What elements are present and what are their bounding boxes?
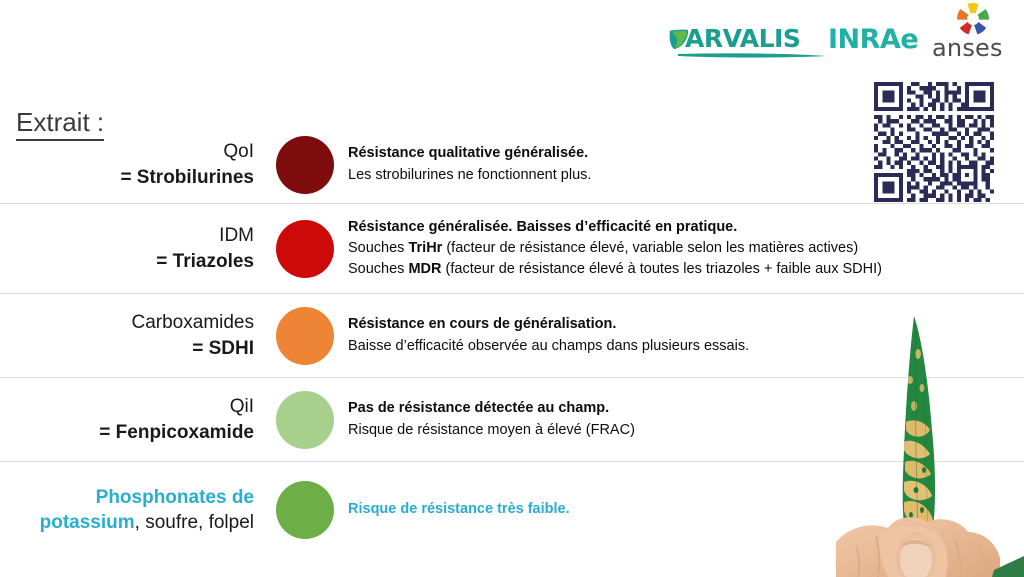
resistance-table: QoI = Strobilurines Résistance qualitati… bbox=[0, 126, 1024, 558]
status-dot-cell bbox=[266, 220, 344, 278]
table-row: QoI = Strobilurines Résistance qualitati… bbox=[0, 126, 1024, 204]
status-detail-line: Les strobilurines ne fonctionnent plus. bbox=[348, 165, 1024, 186]
status-dot-cell bbox=[266, 136, 344, 194]
fungicide-family-cell: Phosphonates de potassium, soufre, folpe… bbox=[0, 485, 266, 535]
resistance-description-cell: Résistance qualitative généralisée. Les … bbox=[344, 143, 1024, 185]
status-detail-line: Souches MDR (facteur de résistance élevé… bbox=[348, 259, 1024, 280]
family-code: IDM bbox=[0, 223, 254, 248]
resistance-description-cell: Résistance généralisée. Baisses d’effica… bbox=[344, 217, 1024, 280]
family-code: QiI bbox=[0, 394, 254, 419]
status-headline: Résistance qualitative généralisée. bbox=[348, 143, 1024, 164]
status-detail-line: Risque de résistance moyen à élevé (FRAC… bbox=[348, 420, 1024, 441]
anses-logo: anses bbox=[932, 2, 1024, 60]
fungicide-family-cell: Carboxamides = SDHI bbox=[0, 310, 266, 360]
table-row: IDM = Triazoles Résistance généralisée. … bbox=[0, 204, 1024, 294]
status-headline: Résistance généralisée. Baisses d’effica… bbox=[348, 217, 1024, 238]
anses-pinwheel-icon bbox=[956, 2, 990, 36]
table-row: QiI = Fenpicoxamide Pas de résistance dé… bbox=[0, 378, 1024, 462]
severity-dot-light-green bbox=[276, 391, 334, 449]
status-dot-cell bbox=[266, 481, 344, 539]
resistance-description-cell: Pas de résistance détectée au champ. Ris… bbox=[344, 398, 1024, 440]
fungicide-family-cell: QiI = Fenpicoxamide bbox=[0, 394, 266, 444]
inrae-logo-text: INRAe bbox=[828, 24, 918, 55]
fungicide-family-cell: IDM = Triazoles bbox=[0, 223, 266, 273]
severity-dot-red bbox=[276, 220, 334, 278]
status-dot-cell bbox=[266, 391, 344, 449]
status-headline: Risque de résistance très faible. bbox=[348, 499, 1024, 520]
family-name: = Triazoles bbox=[0, 249, 254, 274]
family-code: QoI bbox=[0, 139, 254, 164]
severity-dot-orange bbox=[276, 307, 334, 365]
resistance-description-cell: Risque de résistance très faible. bbox=[344, 499, 1024, 520]
status-detail-line: Baisse d’efficacité observée au champs d… bbox=[348, 336, 1024, 357]
fungicide-family-cell: QoI = Strobilurines bbox=[0, 139, 266, 189]
family-name-plain: , soufre, folpel bbox=[135, 512, 254, 533]
arvalis-logo-text: ARVALIS bbox=[685, 24, 800, 53]
table-row: Carboxamides = SDHI Résistance en cours … bbox=[0, 294, 1024, 378]
family-name: = SDHI bbox=[0, 336, 254, 361]
family-name: = Strobilurines bbox=[0, 165, 254, 190]
logo-bar: ARVALIS INRAe anses bbox=[660, 0, 1024, 70]
status-dot-cell bbox=[266, 307, 344, 365]
status-headline: Pas de résistance détectée au champ. bbox=[348, 398, 1024, 419]
severity-dot-green bbox=[276, 481, 334, 539]
arvalis-logo: ARVALIS bbox=[668, 24, 828, 64]
status-detail-line: Souches TriHr (facteur de résistance éle… bbox=[348, 238, 1024, 259]
table-row: Phosphonates de potassium, soufre, folpe… bbox=[0, 462, 1024, 558]
family-code: Carboxamides bbox=[0, 310, 254, 335]
anses-logo-text: anses bbox=[932, 34, 1003, 62]
severity-dot-dark-red bbox=[276, 136, 334, 194]
resistance-description-cell: Résistance en cours de généralisation. B… bbox=[344, 314, 1024, 356]
status-headline: Résistance en cours de généralisation. bbox=[348, 314, 1024, 335]
family-name: = Fenpicoxamide bbox=[0, 420, 254, 445]
arvalis-swoosh-icon bbox=[678, 52, 828, 60]
